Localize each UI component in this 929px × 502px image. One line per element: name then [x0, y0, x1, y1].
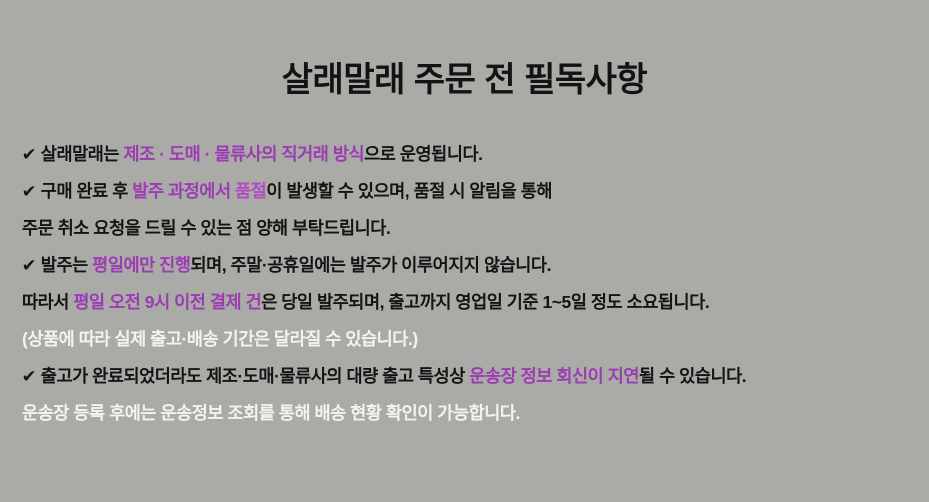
check-icon: ✔ [22, 136, 36, 173]
page-title: 살래말래 주문 전 필독사항 [0, 58, 929, 102]
notice-text-segment: 제조 · 도매 · 물류사의 직거래 방식 [123, 144, 364, 164]
notice-line-1: ✔살래말래는 제조 · 도매 · 물류사의 직거래 방식으로 운영됩니다. [22, 136, 922, 173]
notice-text-segment: 출고가 완료되었더라도 제조·도매·물류사의 대량 출고 특성상 [41, 366, 469, 386]
notice-text-segment: 발주 과정에서 [132, 181, 235, 201]
notice-text-segment: 이 발생할 수 있으며, 품절 시 알림을 통해 [266, 181, 552, 201]
notice-line-5: 따라서 평일 오전 9시 이전 결제 건은 당일 발주되며, 출고까지 영업일 … [22, 284, 922, 321]
notice-text-segment: 평일에만 진행 [92, 255, 190, 275]
notice-text-segment: 발주는 [41, 255, 92, 275]
notice-line-6: (상품에 따라 실제 출고·배송 기간은 달라질 수 있습니다.) [22, 321, 922, 358]
check-icon: ✔ [22, 358, 36, 395]
notice-line-3: 주문 취소 요청을 드릴 수 있는 점 양해 부탁드립니다. [22, 210, 922, 247]
notice-line-7: ✔출고가 완료되었더라도 제조·도매·물류사의 대량 출고 특성상 운송장 정보… [22, 358, 922, 395]
notice-card: 살래말래 주문 전 필독사항 ✔살래말래는 제조 · 도매 · 물류사의 직거래… [0, 0, 929, 502]
notice-text-segment: 주문 취소 요청을 드릴 수 있는 점 양해 부탁드립니다. [22, 218, 390, 238]
notice-text-segment: 으로 운영됩니다. [364, 144, 482, 164]
notice-text-segment: 살래말래는 [41, 144, 124, 164]
notice-text-segment: 은 당일 발주되며, 출고까지 영업일 기준 1~5일 정도 소요됩니다. [261, 292, 709, 312]
check-icon: ✔ [22, 247, 36, 284]
notice-text-segment: 운송장 등록 후에는 운송정보 조회를 통해 배송 현황 확인이 가능합니다. [22, 403, 520, 423]
notice-text-segment: (상품에 따라 실제 출고·배송 기간은 달라질 수 있습니다.) [22, 329, 418, 349]
notice-text-segment: 될 수 있습니다. [639, 366, 746, 386]
notice-text-segment: 되며, 주말·공휴일에는 발주가 이루어지지 않습니다. [190, 255, 551, 275]
notice-line-4: ✔발주는 평일에만 진행되며, 주말·공휴일에는 발주가 이루어지지 않습니다. [22, 247, 922, 284]
notice-text-segment: 따라서 [22, 292, 73, 312]
check-icon: ✔ [22, 173, 36, 210]
notice-text-segment: 품절 [235, 181, 266, 201]
notice-text-segment: 구매 완료 후 [41, 181, 133, 201]
notice-text-segment: 운송장 정보 회신이 지연 [469, 366, 639, 386]
notice-line-2: ✔구매 완료 후 발주 과정에서 품절이 발생할 수 있으며, 품절 시 알림을… [22, 173, 922, 210]
notice-line-8: 운송장 등록 후에는 운송정보 조회를 통해 배송 현황 확인이 가능합니다. [22, 395, 922, 432]
notice-body: ✔살래말래는 제조 · 도매 · 물류사의 직거래 방식으로 운영됩니다.✔구매… [22, 136, 922, 432]
notice-text-segment: 평일 오전 9시 이전 결제 건 [73, 292, 261, 312]
